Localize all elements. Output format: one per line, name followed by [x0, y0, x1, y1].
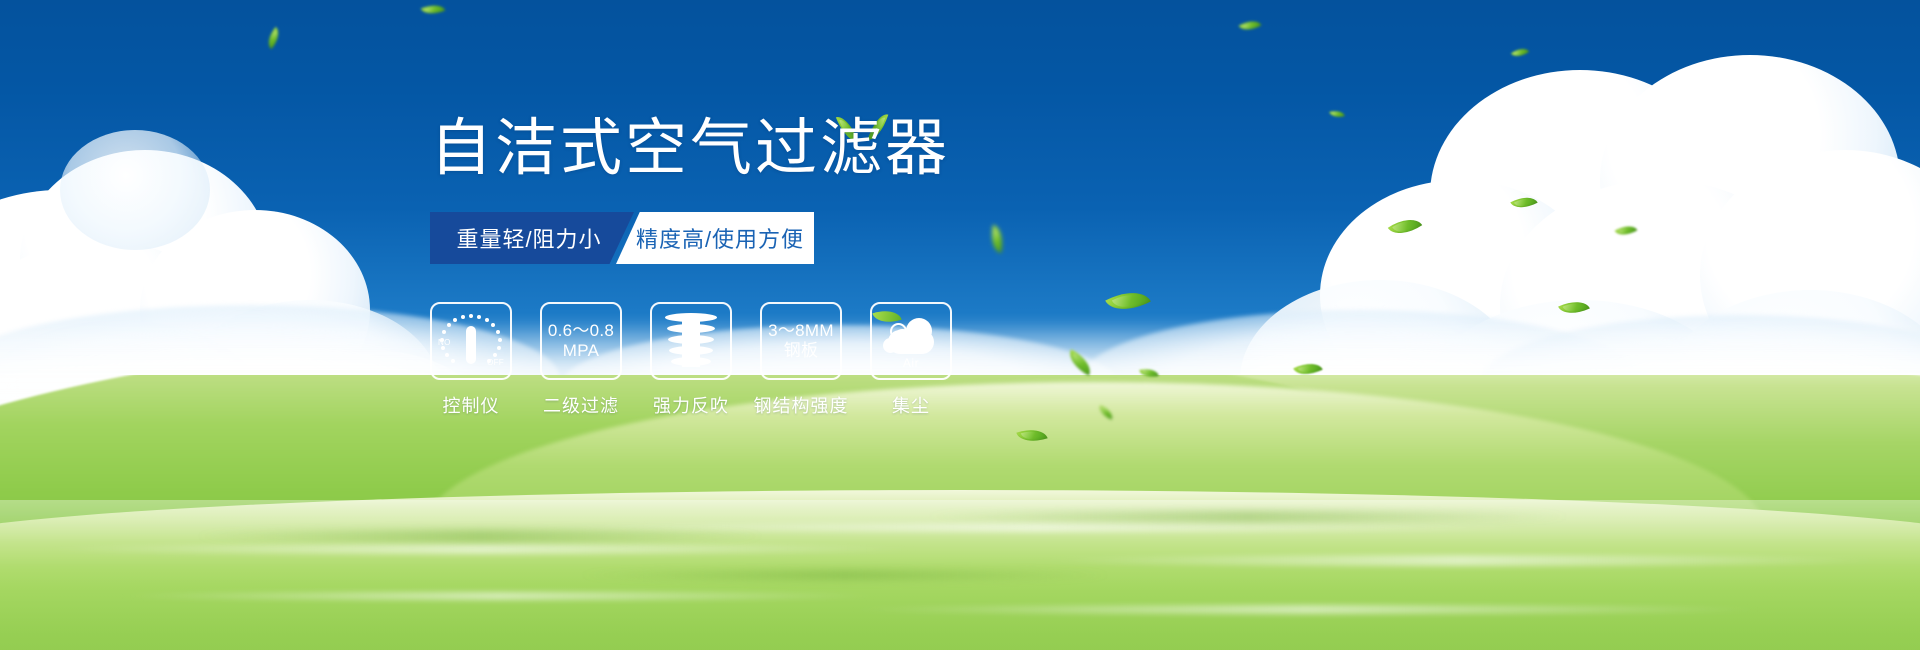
feature-label: 集尘 [892, 392, 930, 418]
feature-text-line1: 0.6～0.8 [548, 321, 614, 341]
feature-text-line1: 3～8MM [768, 321, 834, 341]
filter-stack-icon [662, 311, 720, 371]
air-label: Air [880, 356, 942, 370]
feature-item-controller: NO OFF 控制仪 [430, 302, 512, 418]
pressure-icon: 0.6～0.8 MPA [548, 321, 614, 360]
feature-list: NO OFF 控制仪 0.6～0.8 MPA 二级过滤 [430, 302, 1190, 418]
banner-stage: 自洁式空气过滤器 重量轻/阻力小 精度高/使用方便 [0, 0, 1920, 650]
steel-plate-icon: 3～8MM 钢板 [768, 321, 834, 360]
feature-item-pressure: 0.6～0.8 MPA 二级过滤 [540, 302, 622, 418]
banner-content: 自洁式空气过滤器 重量轻/阻力小 精度高/使用方便 [430, 118, 1190, 418]
feature-icon-box: NO OFF [430, 302, 512, 380]
tagline-pill-group: 重量轻/阻力小 精度高/使用方便 [430, 212, 822, 264]
gauge-on-label: NO [438, 338, 451, 347]
feature-icon-box [650, 302, 732, 380]
feature-item-dust: Air 集尘 [870, 302, 952, 418]
air-cloud-icon: Air [880, 314, 942, 368]
tagline-pill-primary: 重量轻/阻力小 [430, 212, 634, 264]
feature-item-backblow: 强力反吹 [650, 302, 732, 418]
page-title: 自洁式空气过滤器 [430, 118, 1190, 180]
feature-label: 控制仪 [443, 392, 500, 418]
gauge-off-label: OFF [487, 358, 504, 367]
tagline-pill-secondary: 精度高/使用方便 [616, 212, 814, 264]
feature-icon-box: 3～8MM 钢板 [760, 302, 842, 380]
feature-label: 钢结构强度 [754, 392, 849, 418]
feature-text-line2: MPA [548, 341, 614, 361]
feature-label: 二级过滤 [543, 392, 619, 418]
feature-item-steel: 3～8MM 钢板 钢结构强度 [760, 302, 842, 418]
feature-text-line2: 钢板 [768, 341, 834, 361]
feature-icon-box: Air [870, 302, 952, 380]
gauge-icon: NO OFF [439, 312, 503, 370]
feature-icon-box: 0.6～0.8 MPA [540, 302, 622, 380]
feature-label: 强力反吹 [653, 392, 729, 418]
